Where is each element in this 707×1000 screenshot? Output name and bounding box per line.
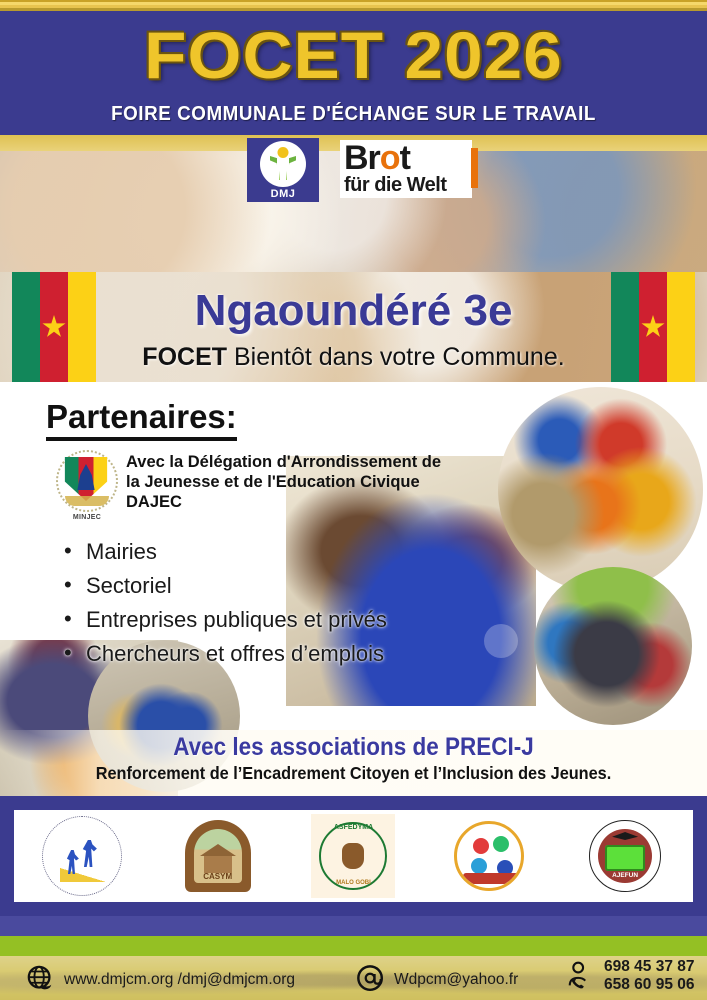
asfedyma-logo: ASFEDYMA MALO GOBI bbox=[311, 814, 395, 898]
association-logos-strip: CASYM ASFEDYMA MALO GOBI bbox=[14, 810, 693, 902]
dmj-head-shape bbox=[278, 147, 289, 158]
preci-j-title: Avec les associations de PRECI-J bbox=[35, 732, 671, 762]
brot-wordmark: Brot bbox=[344, 142, 468, 174]
photo-crowd-queue bbox=[534, 567, 692, 725]
brot-fur-die-welt-logo: Brot für die Welt bbox=[340, 140, 472, 198]
focet-poster: FOCET 2026 FOIRE COMMUNALE D'ÉCHANGE SUR… bbox=[0, 0, 707, 1000]
location-subtitle: FOCET Bientôt dans votre Commune. bbox=[0, 342, 707, 372]
casym-label: CASYM bbox=[194, 872, 242, 881]
casym-scene-shape: CASYM bbox=[194, 829, 242, 883]
location-subtitle-bold: FOCET bbox=[142, 343, 227, 371]
location-subtitle-rest: Bientôt dans votre Commune. bbox=[227, 343, 565, 371]
location-title: Ngaoundéré 3e bbox=[0, 285, 707, 337]
list-item: Sectoriel bbox=[62, 569, 387, 603]
photo-certificate-ceremony bbox=[498, 387, 703, 592]
aped-steps-shape bbox=[60, 868, 106, 882]
casym-hut-icon bbox=[204, 855, 232, 873]
admd-ribbon-shape bbox=[463, 873, 524, 884]
footer-phone-numbers: 698 45 37 87 658 60 95 06 bbox=[604, 958, 695, 994]
graduation-cap-icon bbox=[612, 832, 638, 840]
dmj-emblem-icon bbox=[260, 141, 306, 187]
minjec-ribbon-shape bbox=[65, 496, 109, 506]
list-item: Entreprises publiques et privés bbox=[62, 603, 387, 637]
preci-j-subtitle: Renforcement de l’Encadrement Citoyen et… bbox=[25, 762, 683, 784]
ajefun-logo: AJEFUN bbox=[583, 814, 667, 898]
poster-header: FOCET 2026 FOIRE COMMUNALE D'ÉCHANGE SUR… bbox=[0, 11, 707, 135]
partners-section: Partenaires: MINJEC Avec la Délégation d… bbox=[0, 382, 707, 796]
open-book-icon bbox=[605, 845, 645, 871]
dmj-logo-label: DMJ bbox=[271, 188, 296, 200]
dajec-description: Avec la Délégation d'Arrondissement de l… bbox=[126, 452, 456, 512]
brot-text-b: t bbox=[400, 139, 410, 177]
admd-person-red-icon bbox=[473, 838, 489, 854]
footer-website[interactable]: www.dmjcm.org /dmj@dmjcm.org bbox=[26, 964, 295, 994]
footer-blue-band bbox=[0, 916, 707, 936]
footer-email[interactable]: Wdpcm@yahoo.fr bbox=[356, 964, 518, 994]
aped-logo bbox=[40, 814, 124, 898]
brot-text-o: o bbox=[380, 139, 400, 177]
footer-phone-1: 698 45 37 87 bbox=[604, 958, 695, 976]
minjec-logo: MINJEC bbox=[56, 450, 118, 512]
ajefun-label: AJEFUN bbox=[598, 872, 652, 879]
asfedyma-label: ASFEDYMA bbox=[311, 824, 395, 831]
ajefun-circle-shape: AJEFUN bbox=[589, 820, 661, 892]
poster-footer: www.dmjcm.org /dmj@dmjcm.org Wdpcm@yahoo… bbox=[0, 916, 707, 1000]
footer-phone[interactable]: 698 45 37 87 658 60 95 06 bbox=[566, 958, 695, 994]
admd-person-green-icon bbox=[493, 836, 509, 852]
dmj-figure-shape bbox=[270, 156, 296, 180]
admd-circle-shape bbox=[454, 821, 524, 891]
partners-bullet-list: Mairies Sectoriel Entreprises publiques … bbox=[62, 535, 387, 671]
poster-subtitle: FOIRE COMMUNALE D'ÉCHANGE SUR LE TRAVAIL bbox=[21, 103, 686, 126]
footer-phone-2: 658 60 95 06 bbox=[604, 976, 695, 994]
footer-green-band bbox=[0, 936, 707, 956]
top-gold-trim bbox=[0, 0, 707, 11]
brot-orange-bar bbox=[471, 148, 478, 188]
asfedyma-pot-icon bbox=[342, 843, 364, 869]
list-item: Chercheurs et offres d’emplois bbox=[62, 637, 387, 671]
admd-person-blue-icon bbox=[471, 858, 487, 874]
minjec-label: MINJEC bbox=[56, 514, 118, 521]
poster-title: FOCET 2026 bbox=[0, 19, 707, 91]
location-band: Ngaoundéré 3e FOCET Bientôt dans votre C… bbox=[0, 272, 707, 382]
footer-email-text: Wdpcm@yahoo.fr bbox=[394, 971, 518, 988]
brot-tagline: für die Welt bbox=[344, 174, 468, 196]
asfedyma-sublabel: MALO GOBI bbox=[311, 880, 395, 886]
at-sign-icon bbox=[356, 964, 386, 994]
dmj-logo: DMJ bbox=[247, 138, 319, 202]
aped-ring-shape bbox=[42, 816, 122, 896]
partners-heading: Partenaires: bbox=[46, 398, 237, 441]
casym-arch-shape: CASYM bbox=[185, 820, 251, 892]
admd-logo bbox=[447, 814, 531, 898]
list-item: Mairies bbox=[62, 535, 387, 569]
contact-person-icon bbox=[566, 961, 596, 991]
footer-website-text: www.dmjcm.org /dmj@dmjcm.org bbox=[64, 971, 295, 988]
ajefun-inner-shape: AJEFUN bbox=[598, 829, 652, 883]
casym-logo: CASYM bbox=[176, 814, 260, 898]
brot-text-a: Br bbox=[344, 139, 380, 177]
preci-j-block: Avec les associations de PRECI-J Renforc… bbox=[0, 730, 707, 796]
globe-icon bbox=[26, 964, 56, 994]
